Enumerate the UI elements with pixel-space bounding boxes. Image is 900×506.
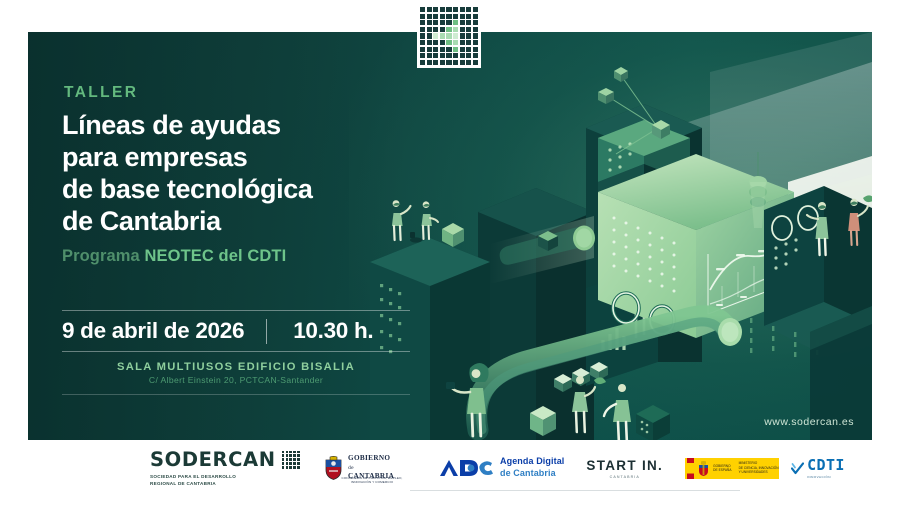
gobierno-line-1: GOBIERNO	[348, 454, 394, 464]
sodercan-grid-mark-icon	[417, 4, 481, 68]
event-venue: SALA MULTIUSOS EDIFICIO BISALIA	[62, 361, 410, 373]
spain-flag-icon	[687, 458, 694, 479]
poster-text-block: TALLER Líneas de ayudas para empresas de…	[62, 84, 412, 266]
adc-mark-icon	[438, 458, 494, 478]
cdti-wordmark: CDTI	[807, 458, 845, 473]
title-line-3: de base tecnológica	[62, 173, 412, 205]
ministerio-line-2: DE ESPAÑA	[713, 468, 731, 472]
logo-cdti[interactable]: CDTI INNOVACIÓN	[791, 458, 845, 479]
isometric-illustration	[358, 32, 872, 440]
footer-logos: SODERCAN SOCIEDAD PARA EL DESARROLLO REG…	[150, 446, 845, 490]
start-in-wordmark: START IN.	[586, 458, 663, 473]
subtitle-highlight: NEOTEC del CDTI	[145, 247, 287, 265]
title-line-4: de Cantabria	[62, 205, 412, 237]
poster-root: TALLER Líneas de ayudas para empresas de…	[0, 0, 900, 506]
sodercan-grid-icon	[282, 451, 300, 469]
poster-panel: TALLER Líneas de ayudas para empresas de…	[28, 32, 872, 440]
logo-ministerio[interactable]: GOBIERNO DE ESPAÑA MINISTERIO DE CIENCIA…	[685, 458, 779, 479]
details-rule-mid	[62, 351, 410, 352]
sodercan-lockup: SODERCAN	[150, 448, 300, 471]
logo-sodercan[interactable]: SODERCAN SOCIEDAD PARA EL DESARROLLO REG…	[150, 448, 310, 488]
title-line-2: para empresas	[62, 141, 412, 173]
event-time: 10.30 h.	[293, 318, 373, 344]
ministerio-gov-text: GOBIERNO DE ESPAÑA	[713, 464, 731, 473]
ministerio-line-5: Y UNIVERSIDADES	[739, 470, 779, 474]
spain-crest-icon	[697, 461, 710, 476]
logo-start-in[interactable]: START IN. CANTABRIA	[586, 458, 663, 479]
sodercan-tagline-line-1: SOCIEDAD PARA EL DESARROLLO	[150, 474, 236, 481]
date-time-divider	[266, 319, 267, 344]
event-address: C/ Albert Einstein 20, PCTCAN-Santander	[62, 375, 410, 385]
sodercan-tagline: SOCIEDAD PARA EL DESARROLLO REGIONAL DE …	[150, 474, 236, 488]
website-url[interactable]: www.sodercan.es	[764, 416, 854, 428]
sodercan-wordmark: SODERCAN	[150, 448, 276, 471]
programme-subtitle: Programa NEOTEC del CDTI	[62, 247, 412, 266]
page-title: Líneas de ayudas para empresas de base t…	[62, 109, 412, 238]
details-rule-bottom	[62, 394, 410, 395]
cdti-tagline: INNOVACIÓN	[807, 475, 845, 479]
cdti-check-icon	[791, 462, 804, 475]
footer-divider	[410, 490, 740, 491]
gobierno-line-2: de	[348, 465, 354, 471]
footer-logo-bar: SODERCAN SOCIEDAD PARA EL DESARROLLO REG…	[0, 440, 900, 506]
logo-gobierno-cantabria[interactable]: GOBIERNO de CANTABRIA CONSEJERÍA DE INDU…	[324, 446, 420, 490]
event-kicker: TALLER	[64, 84, 412, 102]
title-line-1: Líneas de ayudas	[62, 109, 412, 141]
date-time-row: 9 de abril de 2026 10.30 h.	[62, 311, 410, 351]
start-in-tagline: CANTABRIA	[610, 475, 640, 479]
adc-line-2: de Cantabria	[500, 468, 564, 480]
ministerio-dept-text: MINISTERIO DE CIENCIA, INNOVACIÓN Y UNIV…	[739, 461, 779, 474]
gobierno-fine-line-2: INNOVACIÓN Y COMERCIO	[324, 480, 420, 484]
adc-line-1: Agenda Digital	[500, 456, 564, 468]
event-details-block: 9 de abril de 2026 10.30 h. SALA MULTIUS…	[62, 310, 410, 395]
logo-agenda-digital[interactable]: Agenda Digital de Cantabria	[438, 456, 564, 479]
subtitle-prefix: Programa	[62, 247, 145, 265]
ministerio-plate: GOBIERNO DE ESPAÑA MINISTERIO DE CIENCIA…	[685, 458, 779, 479]
sodercan-tagline-line-2: REGIONAL DE CANTABRIA	[150, 481, 236, 488]
adc-text: Agenda Digital de Cantabria	[500, 456, 564, 479]
event-date: 9 de abril de 2026	[62, 318, 244, 344]
gobierno-fineprint: CONSEJERÍA DE INDUSTRIA, EMPLEO, INNOVAC…	[324, 476, 420, 485]
cdti-text: CDTI INNOVACIÓN	[807, 458, 845, 479]
